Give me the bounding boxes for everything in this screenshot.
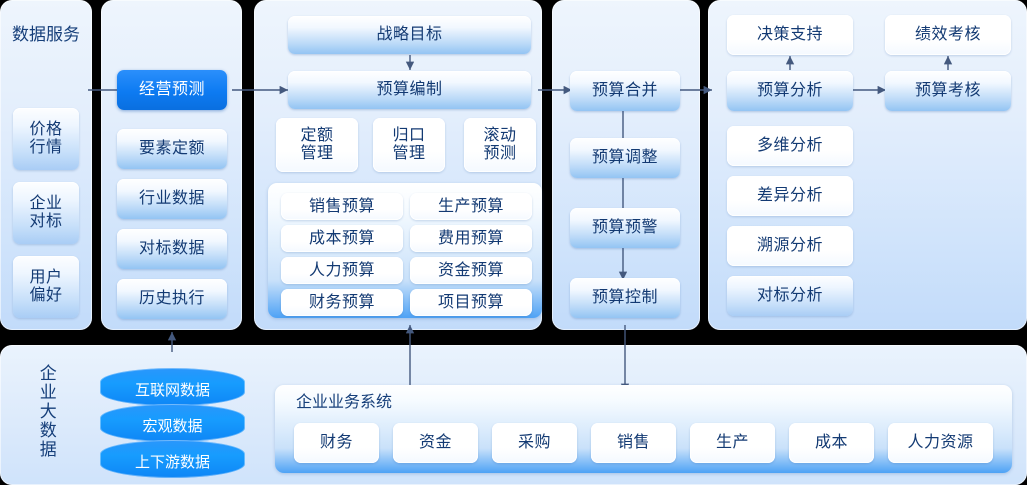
- card-capital-budget[interactable]: 资金预算: [410, 257, 532, 284]
- card-label: 财务: [320, 434, 353, 452]
- card-label: 预算调整: [592, 149, 658, 167]
- card-budget-preparation[interactable]: 预算编制: [288, 71, 531, 109]
- card-production-budget[interactable]: 生产预算: [410, 193, 532, 220]
- label-enterprise-bigdata: 企业大数据: [35, 364, 56, 459]
- card-label: 销售: [617, 434, 650, 452]
- card-label: 对标分析: [757, 287, 823, 305]
- card-label: 资金: [419, 434, 452, 452]
- card-business-capital[interactable]: 资金: [393, 423, 478, 463]
- card-budget-adjustment[interactable]: 预算调整: [570, 138, 680, 178]
- card-label: 滚动 预测: [483, 127, 516, 163]
- cylinder-label: 宏观数据: [142, 415, 202, 436]
- card-centralized-management[interactable]: 归口 管理: [373, 118, 445, 172]
- card-label: 人力资源: [907, 434, 973, 452]
- card-decision-support[interactable]: 决策支持: [727, 15, 853, 55]
- card-factor-quota[interactable]: 要素定额: [117, 129, 227, 169]
- card-budget-assessment[interactable]: 预算考核: [885, 71, 1011, 111]
- card-label: 生产预算: [438, 198, 504, 216]
- cylinder-label: 互联网数据: [135, 379, 210, 400]
- card-budget-warning[interactable]: 预算预警: [570, 208, 680, 248]
- card-label: 人力预算: [309, 262, 375, 280]
- card-label: 归口 管理: [392, 127, 425, 163]
- card-label: 项目预算: [438, 294, 504, 312]
- card-label: 预算合并: [592, 82, 658, 100]
- card-label: 预算控制: [592, 289, 658, 307]
- card-label: 成本: [815, 434, 848, 452]
- card-business-finance[interactable]: 财务: [294, 423, 379, 463]
- card-business-forecast[interactable]: 经营预测: [117, 70, 227, 110]
- card-business-hr[interactable]: 人力资源: [888, 423, 993, 463]
- card-label: 经营预测: [139, 81, 205, 99]
- card-label: 溯源分析: [757, 237, 823, 255]
- cylinder-label: 上下游数据: [135, 451, 210, 472]
- card-label: 差异分析: [757, 187, 823, 205]
- card-business-production[interactable]: 生产: [690, 423, 775, 463]
- cylinder-segment-supplychain[interactable]: 上下游数据: [100, 440, 245, 478]
- bigdata-cylinder: 互联网数据 宏观数据 上下游数据: [100, 368, 245, 476]
- card-benchmark-analysis[interactable]: 对标分析: [727, 276, 853, 316]
- card-multidimensional-analysis[interactable]: 多维分析: [727, 126, 853, 166]
- card-label: 企业 对标: [29, 195, 62, 231]
- card-user-preference[interactable]: 用户 偏好: [13, 256, 79, 318]
- card-benchmark-data[interactable]: 对标数据: [117, 229, 227, 269]
- card-label: 成本预算: [309, 230, 375, 248]
- card-history-execution[interactable]: 历史执行: [117, 279, 227, 319]
- card-label: 生产: [716, 434, 749, 452]
- card-budget-merge[interactable]: 预算合并: [570, 71, 680, 111]
- card-label: 价格 行情: [29, 121, 62, 157]
- card-business-sales[interactable]: 销售: [591, 423, 676, 463]
- cylinder-segment-macro[interactable]: 宏观数据: [100, 404, 245, 442]
- card-label: 采购: [518, 434, 551, 452]
- card-label: 预算考核: [915, 82, 981, 100]
- card-enterprise-benchmark[interactable]: 企业 对标: [13, 182, 79, 244]
- card-strategic-goal[interactable]: 战略目标: [288, 16, 531, 54]
- card-label: 对标数据: [139, 240, 205, 258]
- card-label: 预算分析: [757, 82, 823, 100]
- panel-title-data-service: 数据服务: [6, 25, 86, 45]
- card-cost-budget[interactable]: 成本预算: [281, 225, 403, 252]
- card-label: 多维分析: [757, 137, 823, 155]
- card-business-procurement[interactable]: 采购: [492, 423, 577, 463]
- card-label: 用户 偏好: [29, 269, 62, 305]
- cylinder-segment-internet[interactable]: 互联网数据: [100, 368, 245, 406]
- card-traceability-analysis[interactable]: 溯源分析: [727, 226, 853, 266]
- card-financial-budget[interactable]: 财务预算: [281, 289, 403, 316]
- card-industry-data[interactable]: 行业数据: [117, 179, 227, 219]
- card-hr-budget[interactable]: 人力预算: [281, 257, 403, 284]
- card-label: 预算预警: [592, 219, 658, 237]
- card-label: 要素定额: [139, 140, 205, 158]
- card-label: 财务预算: [309, 294, 375, 312]
- business-systems-title: 企业业务系统: [296, 393, 496, 412]
- card-expense-budget[interactable]: 费用预算: [410, 225, 532, 252]
- card-label: 资金预算: [438, 262, 504, 280]
- card-label: 行业数据: [139, 190, 205, 208]
- card-label: 战略目标: [376, 26, 442, 44]
- card-business-cost[interactable]: 成本: [789, 423, 874, 463]
- card-project-budget[interactable]: 项目预算: [410, 289, 532, 316]
- card-budget-control[interactable]: 预算控制: [570, 278, 680, 318]
- card-label: 历史执行: [139, 290, 205, 308]
- card-quota-management[interactable]: 定额 管理: [276, 118, 358, 172]
- card-label: 费用预算: [438, 230, 504, 248]
- card-budget-analysis[interactable]: 预算分析: [727, 71, 853, 111]
- card-label: 决策支持: [757, 26, 823, 44]
- card-rolling-forecast[interactable]: 滚动 预测: [464, 118, 536, 172]
- card-performance-assessment[interactable]: 绩效考核: [885, 15, 1011, 55]
- diagram-canvas: 数据服务 价格 行情 企业 对标 用户 偏好 经营预测 要素定额 行业数据 对标…: [0, 0, 1027, 485]
- card-label: 定额 管理: [300, 127, 333, 163]
- card-label: 绩效考核: [915, 26, 981, 44]
- card-price-market[interactable]: 价格 行情: [13, 108, 79, 170]
- card-sales-budget[interactable]: 销售预算: [281, 193, 403, 220]
- card-label: 销售预算: [309, 198, 375, 216]
- card-label: 预算编制: [376, 81, 442, 99]
- card-variance-analysis[interactable]: 差异分析: [727, 176, 853, 216]
